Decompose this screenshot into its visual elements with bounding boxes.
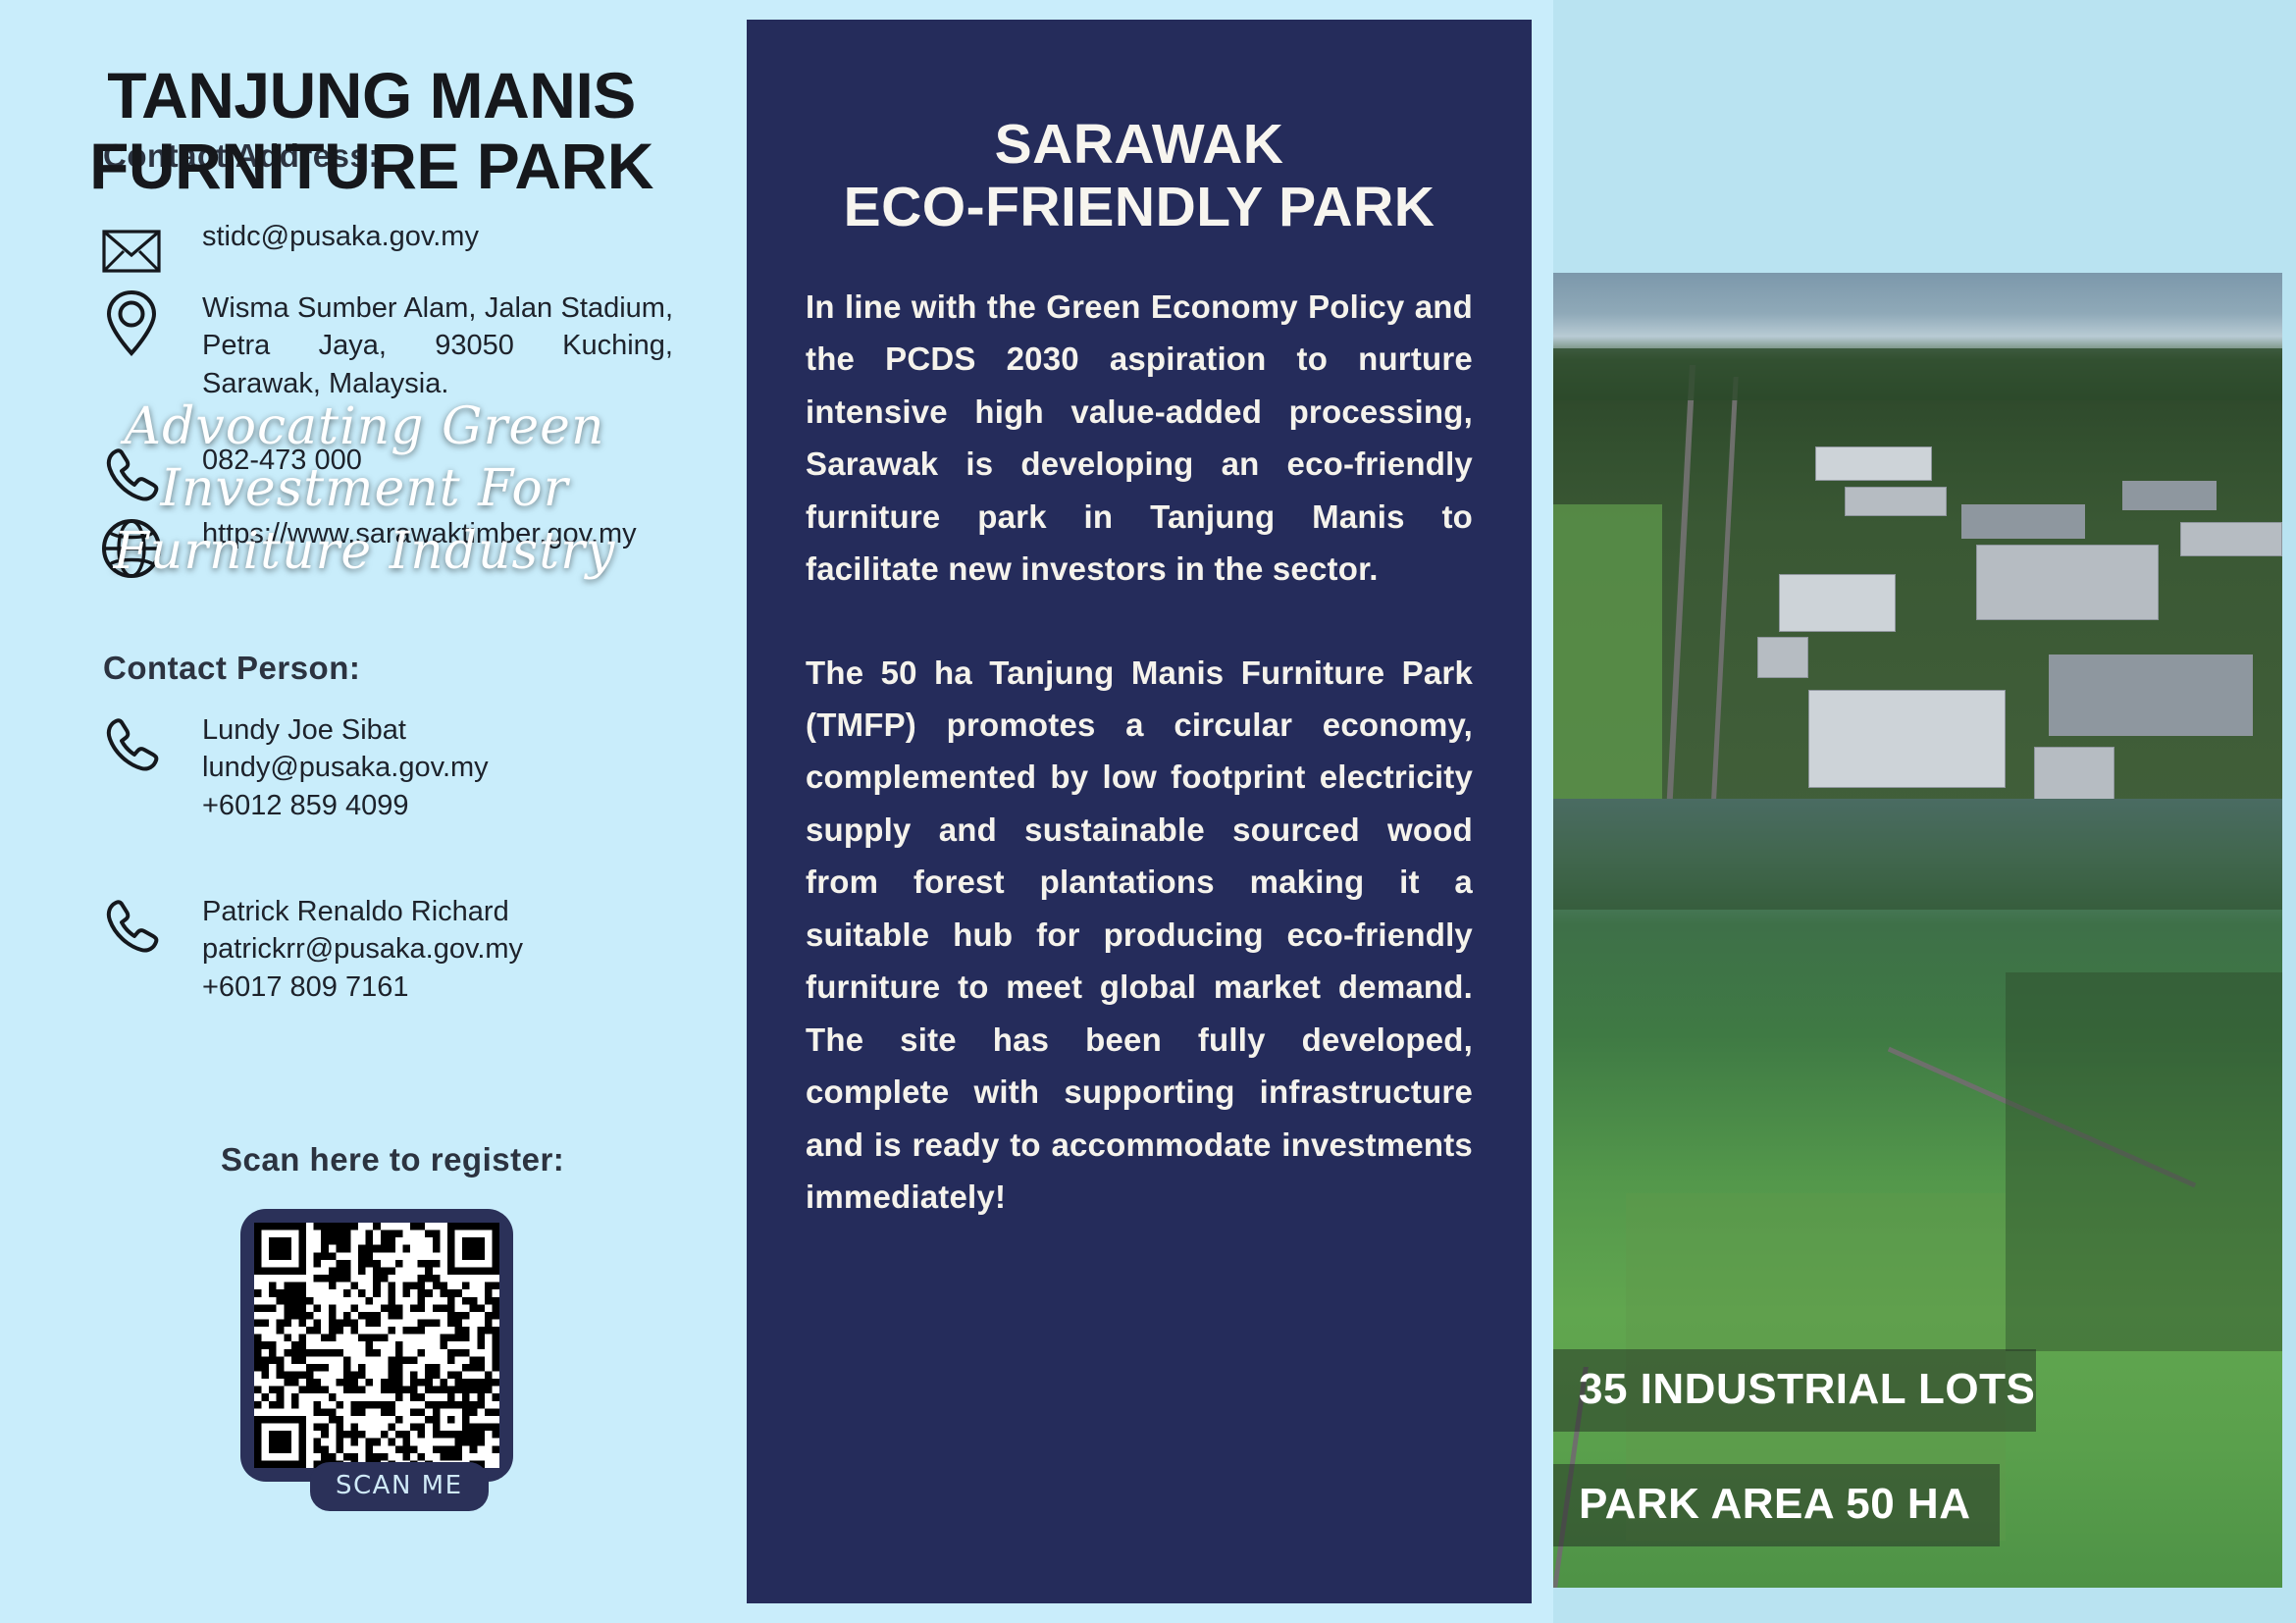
cover-title: TANJUNG MANIS FURNITURE PARK bbox=[0, 61, 743, 202]
contact-person-details-2: Patrick Renaldo Richard patrickrr@pusaka… bbox=[165, 893, 523, 1006]
brochure-page: Contact Address: stidc@pusaka.gov.my Wis… bbox=[0, 0, 2296, 1623]
contact-person-name-1: Lundy Joe Sibat bbox=[202, 711, 489, 749]
scan-here-heading: Scan here to register: bbox=[221, 1141, 564, 1178]
photo-caption: Advocating Green Investment For Furnitur… bbox=[0, 396, 729, 583]
contact-panel: Contact Address: stidc@pusaka.gov.my Wis… bbox=[0, 0, 747, 1623]
contact-person-row-1: Lundy Joe Sibat lundy@pusaka.gov.my +601… bbox=[98, 711, 489, 824]
phone-icon bbox=[98, 893, 165, 960]
contact-person-phone-2[interactable]: +6017 809 7161 bbox=[202, 969, 523, 1006]
eco-park-title: SARAWAK ECO-FRIENDLY PARK bbox=[806, 20, 1473, 239]
panel-divider bbox=[1532, 0, 1553, 1623]
contact-row-email: stidc@pusaka.gov.my bbox=[98, 218, 479, 285]
location-pin-icon bbox=[98, 289, 165, 356]
stat-park-area: PARK AREA 50 HA bbox=[1553, 1464, 2000, 1546]
contact-person-phone-1[interactable]: +6012 859 4099 bbox=[202, 787, 489, 824]
cover-title-line2: FURNITURE PARK bbox=[0, 131, 743, 202]
qr-code-canvas bbox=[254, 1223, 499, 1468]
qr-code[interactable] bbox=[240, 1209, 513, 1482]
photo-caption-line1: Advocating Green Investment For bbox=[125, 397, 605, 518]
aerial-photo-industrial-park bbox=[1553, 273, 2282, 852]
scan-me-badge: SCAN ME bbox=[310, 1462, 489, 1511]
eco-park-paragraph-2: The 50 ha Tanjung Manis Furniture Park (… bbox=[806, 647, 1473, 1224]
contact-address-text: Wisma Sumber Alam, Jalan Stadium, Petra … bbox=[165, 289, 673, 402]
eco-park-panel: SARAWAK ECO-FRIENDLY PARK In line with t… bbox=[747, 20, 1532, 1603]
contact-person-heading: Contact Person: bbox=[103, 650, 360, 687]
eco-park-title-line2: ECO-FRIENDLY PARK bbox=[806, 176, 1473, 238]
phone-icon bbox=[98, 711, 165, 778]
contact-person-row-2: Patrick Renaldo Richard patrickrr@pusaka… bbox=[98, 893, 523, 1006]
contact-row-address: Wisma Sumber Alam, Jalan Stadium, Petra … bbox=[98, 289, 673, 402]
eco-park-title-line1: SARAWAK bbox=[995, 113, 1284, 176]
contact-person-name-2: Patrick Renaldo Richard bbox=[202, 893, 523, 930]
envelope-icon bbox=[98, 218, 165, 285]
cover-title-line1: TANJUNG MANIS bbox=[107, 59, 636, 131]
stat-industrial-lots: 35 INDUSTRIAL LOTS bbox=[1553, 1349, 2036, 1432]
photo-caption-line2: Furniture Industry bbox=[0, 521, 729, 583]
contact-email-text[interactable]: stidc@pusaka.gov.my bbox=[165, 218, 479, 255]
eco-park-paragraph-1: In line with the Green Economy Policy an… bbox=[806, 281, 1473, 596]
contact-person-email-1[interactable]: lundy@pusaka.gov.my bbox=[202, 749, 489, 786]
contact-person-email-2[interactable]: patrickrr@pusaka.gov.my bbox=[202, 930, 523, 968]
contact-person-details-1: Lundy Joe Sibat lundy@pusaka.gov.my +601… bbox=[165, 711, 489, 824]
qr-code-image bbox=[254, 1223, 499, 1468]
